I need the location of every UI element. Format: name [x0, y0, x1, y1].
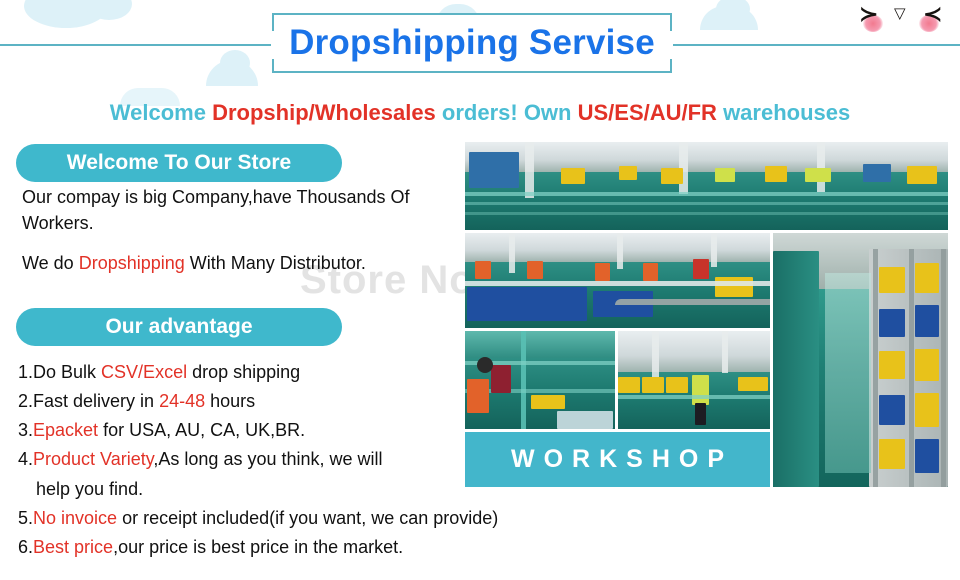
photo-detail — [715, 277, 753, 297]
intro-line-1: Our compay is big Company,have Thousands… — [22, 184, 472, 236]
list-item-pre: help you find. — [36, 479, 143, 499]
photo-detail — [715, 168, 735, 182]
photo-pillar — [722, 331, 728, 373]
photo-worker — [643, 263, 658, 281]
our-advantage-pill-label: Our advantage — [105, 315, 252, 339]
list-item-num: 3. — [18, 420, 33, 440]
list-item-highlight: Best price — [33, 537, 113, 557]
photo-conveyor-line — [465, 192, 948, 196]
photo-worker — [693, 259, 709, 279]
photo-conveyor-line — [465, 212, 948, 215]
intro-line-2-post: With Many Distributor. — [185, 253, 366, 273]
intro-line-2: We do Dropshipping With Many Distributor… — [22, 250, 472, 276]
list-item: 2.Fast delivery in 24-48 hours — [18, 387, 598, 416]
kaomoji-face-icon: ≻ ▽ ≺ — [858, 2, 944, 34]
photo-carton — [915, 305, 939, 337]
photo-conveyor-line — [618, 395, 770, 399]
photo-carton — [879, 439, 905, 469]
photo-warehouse-aisle — [773, 233, 948, 487]
photo-detail — [469, 152, 519, 188]
list-item-highlight: No invoice — [33, 508, 117, 528]
list-item-post: ,our price is best price in the market. — [113, 537, 403, 557]
list-item-num: 5. — [18, 508, 33, 528]
list-item: 1.Do Bulk CSV/Excel drop shipping — [18, 358, 598, 387]
photo-carton — [915, 439, 939, 473]
photo-detail — [561, 168, 585, 184]
photo-carton — [915, 349, 939, 381]
photo-bins — [467, 287, 587, 321]
list-item: 4.Product Variety,As long as you think, … — [18, 445, 598, 474]
list-item-highlight: 24-48 — [159, 391, 205, 411]
kaomoji-mouth: ▽ — [894, 6, 906, 21]
cloud-decoration-2 — [206, 60, 258, 86]
intro-line-1b: Workers. — [22, 213, 94, 233]
photo-pillar — [525, 142, 534, 198]
list-item-highlight: Epacket — [33, 420, 98, 440]
photo-cart — [618, 377, 640, 393]
photo-rack-post — [873, 249, 878, 487]
dropshipping-service-banner: Dropshipping Servise ≻ ▽ ≺ Welcome Drops… — [0, 0, 960, 580]
photo-cart — [666, 377, 688, 393]
cloud-decoration-3 — [700, 6, 758, 30]
photo-pillar — [652, 331, 659, 377]
list-item: 5.No invoice or receipt included(if you … — [18, 504, 598, 533]
photo-pillar — [509, 233, 515, 273]
subtitle-part-4: US/ES/AU/FR — [578, 100, 717, 125]
list-item-num: 2. — [18, 391, 33, 411]
subtitle: Welcome Dropship/Wholesales orders! Own … — [0, 100, 960, 126]
photo-pillar — [617, 233, 623, 269]
photo-detail — [907, 166, 937, 184]
photo-rack-post — [941, 249, 946, 487]
store-intro-text: Our compay is big Company,have Thousands… — [22, 184, 472, 276]
kaomoji-eye-left: ≻ — [859, 4, 879, 25]
photo-carton — [915, 263, 939, 293]
photo-rack-post — [909, 249, 914, 487]
page-title: Dropshipping Servise — [272, 13, 672, 73]
photo-ceiling — [465, 331, 615, 358]
list-item-highlight: CSV/Excel — [101, 362, 187, 382]
photo-conveyor-line — [465, 202, 948, 205]
photo-carton — [879, 267, 905, 293]
photo-carton — [879, 351, 905, 379]
photo-carton — [879, 395, 905, 425]
list-item-num: 4. — [18, 449, 33, 469]
photo-conveyor-belt — [615, 299, 770, 305]
welcome-store-pill-label: Welcome To Our Store — [67, 151, 291, 175]
list-item-post: or receipt included(if you want, we can … — [117, 508, 498, 528]
list-item-pre: Fast delivery in — [33, 391, 159, 411]
photo-cart — [642, 377, 664, 393]
photo-aisle-left — [773, 251, 819, 487]
welcome-store-pill: Welcome To Our Store — [16, 144, 342, 182]
list-item-continuation: help you find. — [18, 475, 598, 504]
cloud-decoration-1 — [24, 0, 108, 28]
list-item-num: 1. — [18, 362, 33, 382]
list-item: 3.Epacket for USA, AU, CA, UK,BR. — [18, 416, 598, 445]
photo-sorting-area — [618, 331, 770, 429]
subtitle-part-5: warehouses — [717, 100, 850, 125]
subtitle-part-3: orders! Own — [436, 100, 578, 125]
list-item-pre: Do Bulk — [33, 362, 101, 382]
photo-conveyor-belt — [465, 281, 770, 286]
intro-line-1a: Our compay is big Company,have Thousands… — [22, 187, 410, 207]
list-item-post: for USA, AU, CA, UK,BR. — [98, 420, 305, 440]
photo-pillar — [711, 233, 717, 267]
photo-conveyor-line — [465, 233, 770, 328]
list-item-num: 6. — [18, 537, 33, 557]
photo-aisle-floor — [825, 273, 871, 473]
photo-ceiling — [618, 331, 770, 372]
photo-pillar — [817, 142, 825, 192]
photo-worker — [692, 375, 709, 405]
intro-line-2-pre: We do — [22, 253, 79, 273]
photo-detail — [695, 403, 706, 425]
intro-line-2-highlight: Dropshipping — [79, 253, 185, 273]
list-item: 6.Best price,our price is best price in … — [18, 533, 598, 562]
list-item-post: hours — [205, 391, 255, 411]
photo-detail — [661, 168, 683, 184]
list-item-post: drop shipping — [187, 362, 300, 382]
advantage-list: 1.Do Bulk CSV/Excel drop shipping 2.Fast… — [18, 358, 598, 562]
photo-detail — [805, 168, 831, 182]
our-advantage-pill: Our advantage — [16, 308, 342, 346]
list-item-highlight: Product Variety — [33, 449, 153, 469]
photo-worker — [527, 261, 543, 279]
photo-cart — [738, 377, 768, 391]
photo-carton — [879, 309, 905, 337]
kaomoji-eye-right: ≺ — [923, 4, 943, 25]
photo-detail — [765, 166, 787, 182]
subtitle-part-2: Dropship/Wholesales — [212, 100, 436, 125]
photo-carton — [915, 393, 939, 427]
subtitle-part-1: Welcome — [110, 100, 212, 125]
photo-detail — [619, 166, 637, 180]
photo-factory-floor-wide — [465, 142, 948, 230]
photo-detail — [863, 164, 891, 182]
photo-worker — [475, 261, 491, 279]
photo-worker — [595, 263, 610, 281]
list-item-post: ,As long as you think, we will — [153, 449, 382, 469]
